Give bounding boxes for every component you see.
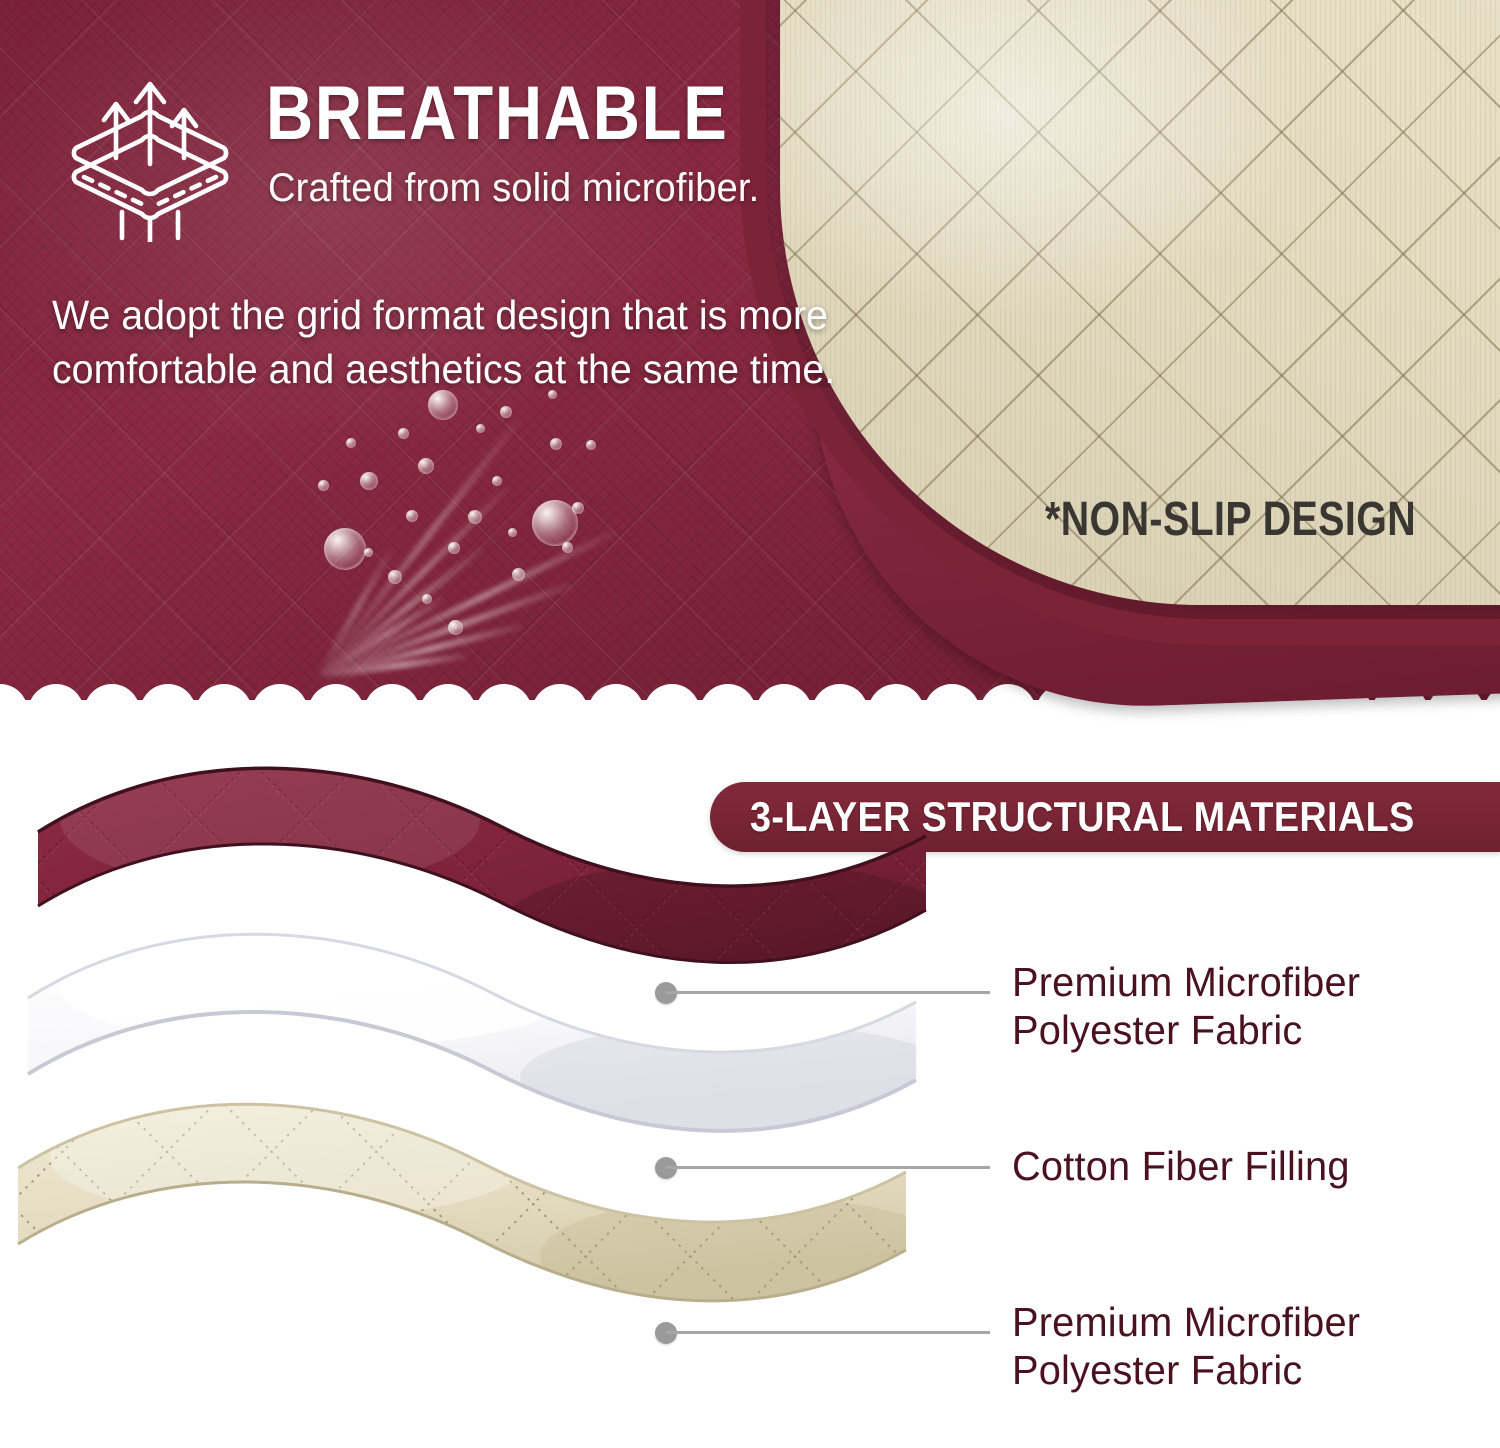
layer-label-3: Premium Microfiber Polyester Fabric xyxy=(1012,1298,1360,1395)
leader-line-layer-2 xyxy=(666,1166,990,1169)
materials-section: 3-LAYER STRUCTURAL MATERIALS xyxy=(0,730,1500,1448)
product-photo-panel: BREATHABLE Crafted from solid microfiber… xyxy=(0,0,1500,730)
layer-label-2-line1: Cotton Fiber Filling xyxy=(1012,1142,1350,1190)
non-slip-callout: *NON-SLIP DESIGN xyxy=(1045,492,1416,547)
layer-label-1-line1: Premium Microfiber xyxy=(1012,958,1360,1006)
leader-line-layer-3 xyxy=(666,1331,990,1334)
layer-sheet-cream xyxy=(10,1098,910,1428)
layer-label-3-line2: Polyester Fabric xyxy=(1012,1346,1360,1394)
photo-bottom-fill xyxy=(0,712,1500,730)
layer-label-2: Cotton Fiber Filling xyxy=(1012,1142,1350,1190)
feature-body-text: We adopt the grid format design that is … xyxy=(52,288,897,396)
layer-label-1-line2: Polyester Fabric xyxy=(1012,1006,1360,1054)
folded-corner xyxy=(820,0,1500,655)
layer-illustration xyxy=(0,730,1000,1448)
leader-line-layer-1 xyxy=(666,991,990,994)
feature-subtitle: Crafted from solid microfiber. xyxy=(268,166,759,211)
layer-label-1: Premium Microfiber Polyester Fabric xyxy=(1012,958,1360,1055)
breathable-layers-icon xyxy=(70,72,230,242)
layer-label-3-line1: Premium Microfiber xyxy=(1012,1298,1360,1346)
page-title: BREATHABLE xyxy=(266,76,729,152)
